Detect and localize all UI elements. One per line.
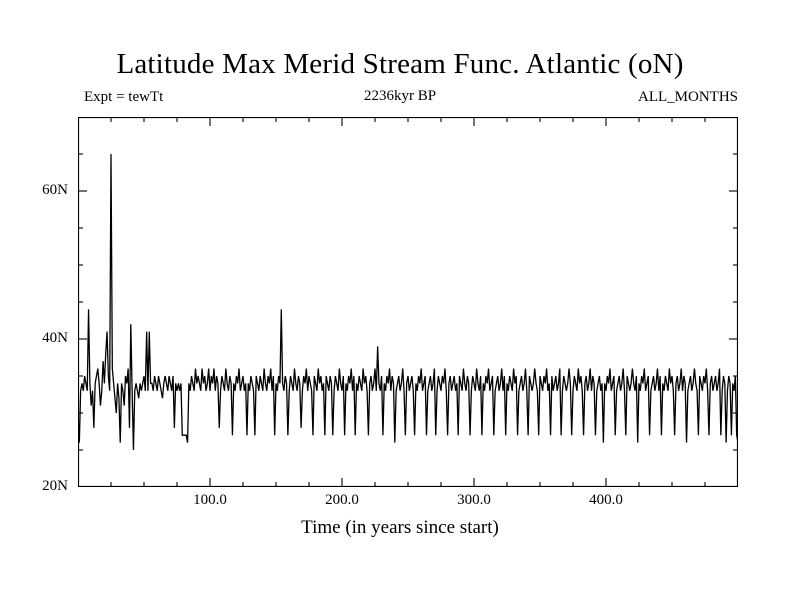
plot-area xyxy=(78,117,738,487)
page-title: Latitude Max Merid Stream Func. Atlantic… xyxy=(0,48,800,81)
x-tick-label: 100.0 xyxy=(175,492,245,509)
chart-page: Latitude Max Merid Stream Func. Atlantic… xyxy=(0,0,800,600)
data-series-line xyxy=(78,154,738,450)
y-tick-label: 20N xyxy=(28,478,68,495)
axis-frame xyxy=(79,118,738,487)
tick-marks xyxy=(78,117,738,487)
x-tick-label: 200.0 xyxy=(307,492,377,509)
timeseries-plot xyxy=(78,117,738,487)
months-label: ALL_MONTHS xyxy=(638,89,738,106)
x-axis-title: Time (in years since start) xyxy=(0,517,800,539)
x-tick-label: 300.0 xyxy=(439,492,509,509)
y-tick-label: 60N xyxy=(28,182,68,199)
y-tick-label: 40N xyxy=(28,330,68,347)
x-tick-label: 400.0 xyxy=(571,492,641,509)
